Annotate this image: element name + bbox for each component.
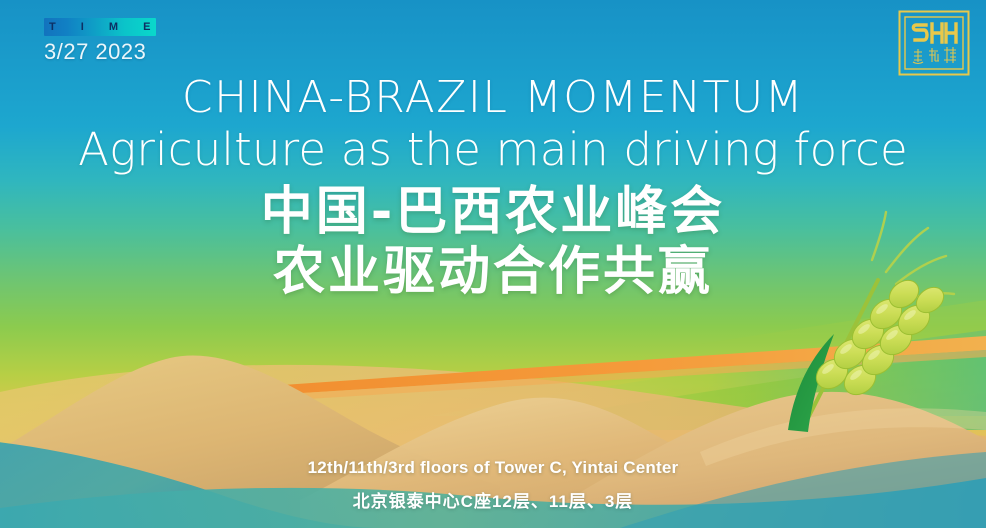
dhh-monogram-icon — [913, 24, 956, 42]
page-title-english: CHINA-BRAZIL MOMENTUM — [0, 76, 986, 120]
event-date: 3/27 2023 — [44, 39, 156, 65]
event-poster: T I M E 3/27 2023 CHINA-BRAZI — [0, 0, 986, 528]
address-english: 12th/11th/3rd floors of Tower C, Yintai … — [0, 458, 986, 478]
dhh-logo[interactable] — [898, 10, 970, 76]
subtitle-english: Agriculture as the main driving force — [0, 126, 986, 173]
time-letter-t: T — [49, 22, 56, 33]
time-letter-e: E — [143, 22, 151, 33]
time-letter-m: M — [109, 22, 119, 33]
time-block: T I M E 3/27 2023 — [44, 18, 156, 65]
dehe-heng-characters — [913, 47, 956, 64]
time-letter-i: I — [81, 22, 85, 33]
time-label-bar: T I M E — [44, 18, 156, 36]
page-title-chinese: 中国-巴西农业峰会 — [0, 183, 986, 241]
title-block: CHINA-BRAZIL MOMENTUM Agriculture as the… — [0, 76, 986, 302]
subtitle-chinese: 农业驱动合作共赢 — [0, 243, 986, 301]
address-chinese: 北京银泰中心C座12层、11层、3层 — [0, 487, 986, 512]
footer-block: 12th/11th/3rd floors of Tower C, Yintai … — [0, 458, 986, 512]
